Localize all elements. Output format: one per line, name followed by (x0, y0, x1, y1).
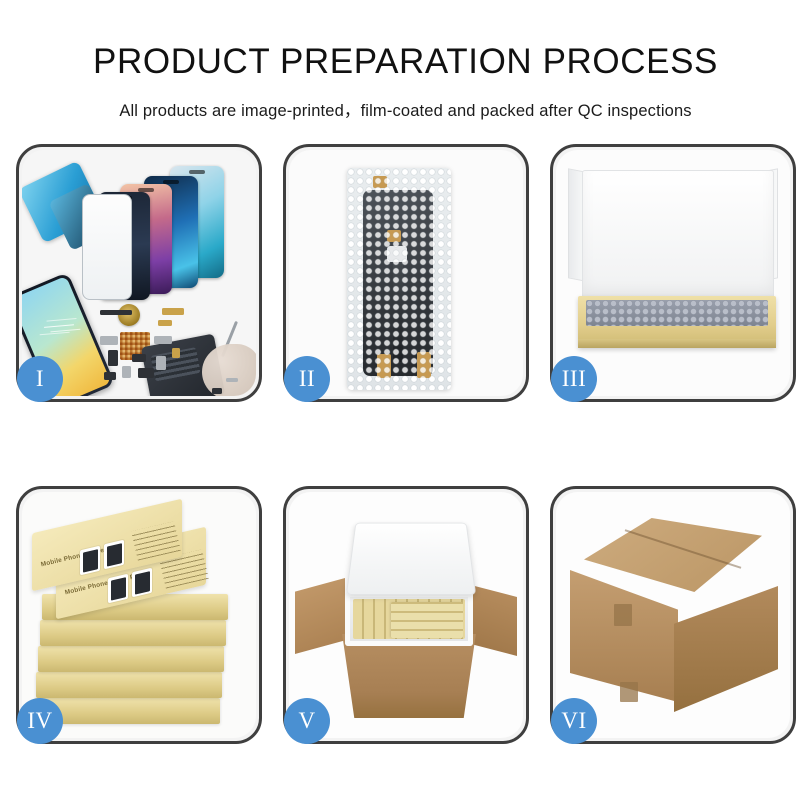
carton-body-icon (333, 634, 485, 718)
foam-lid-icon (346, 523, 476, 595)
process-steps-grid: I II III (16, 144, 796, 744)
tape-icon (373, 176, 387, 188)
small-part-icon (122, 366, 131, 378)
small-part-icon (158, 320, 172, 326)
bubble-wrap-bag-icon (347, 168, 451, 390)
step-card-4: Mobile Phone Spare Parts Mobile Phone Sp… (16, 486, 262, 744)
step-badge-5: V (284, 698, 330, 744)
small-part-icon (100, 336, 118, 345)
box-artwork-icon (132, 568, 152, 598)
tape-icon (377, 354, 391, 378)
small-part-icon (108, 350, 118, 366)
step-badge-2: II (284, 356, 330, 402)
white-box-lid-icon (582, 170, 774, 300)
box-artwork-icon (80, 546, 100, 576)
step-card-3: III (550, 144, 796, 402)
step-image-phone-parts-collage (22, 150, 256, 396)
tape-icon (417, 352, 431, 378)
box-artwork-icon (104, 540, 124, 570)
small-part-icon (154, 336, 172, 344)
step-image-sealed-shipping-carton (556, 492, 790, 738)
step-card-5: V (283, 486, 529, 744)
page-header: PRODUCT PREPARATION PROCESS All products… (0, 0, 811, 121)
carton-top-face-icon (584, 518, 762, 592)
gold-box-tray-icon (578, 296, 776, 348)
gold-box-icon (36, 672, 222, 698)
step-badge-1: I (17, 356, 63, 402)
foam-insert-icon (345, 592, 473, 646)
carton-tape-icon (620, 682, 638, 702)
page-title: PRODUCT PREPARATION PROCESS (0, 44, 811, 79)
step-image-carton-with-foam-insert (289, 492, 523, 738)
small-part-icon (100, 310, 132, 315)
step-badge-4: IV (17, 698, 63, 744)
hand-icon (202, 344, 256, 396)
carton-flap-icon (467, 584, 517, 656)
small-part-icon (104, 372, 116, 380)
connector-pad-icon (387, 246, 407, 262)
small-part-icon (138, 368, 154, 378)
gold-box-stack-icon (391, 602, 463, 638)
small-part-icon (156, 356, 166, 370)
bubble-wrap-fill-icon (586, 300, 768, 326)
small-part-icon (132, 354, 146, 362)
phone-notch-icon (189, 170, 205, 174)
box-artwork-icon (108, 574, 128, 604)
shipping-carton-icon (570, 518, 784, 714)
gold-box-icon (38, 646, 224, 672)
speaker-coil-icon (118, 304, 140, 326)
gold-box-icon (40, 620, 226, 646)
carton-tape-icon (614, 604, 632, 626)
step-image-stacked-gold-boxes: Mobile Phone Spare Parts Mobile Phone Sp… (22, 492, 256, 738)
step-image-bubble-wrapped-screen (289, 150, 523, 396)
small-part-icon (172, 348, 180, 358)
step-card-1: I (16, 144, 262, 402)
page-subtitle: All products are image-printed，film-coat… (0, 97, 811, 121)
step-card-6: VI (550, 486, 796, 744)
glass-panel-icon (82, 194, 132, 300)
step-card-2: II (283, 144, 529, 402)
carton-flap-icon (295, 578, 345, 654)
tape-icon (387, 230, 401, 242)
step-badge-6: VI (551, 698, 597, 744)
step-badge-3: III (551, 356, 597, 402)
small-part-icon (162, 308, 184, 315)
carton-side-face-icon (674, 586, 778, 712)
small-part-icon (212, 388, 222, 394)
step-image-gold-tray-with-lid (556, 150, 790, 396)
tray-lip-icon (578, 339, 776, 348)
small-part-icon (226, 378, 238, 382)
